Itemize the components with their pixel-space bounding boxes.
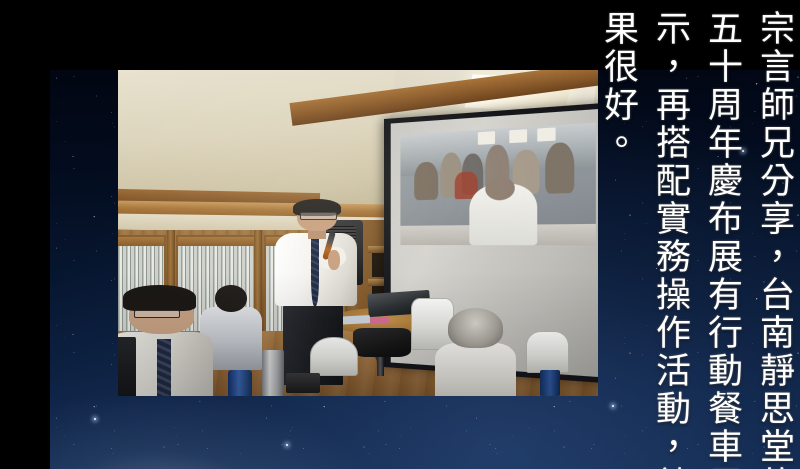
- presenter-necktie: [311, 237, 319, 306]
- bright-star: [286, 444, 288, 446]
- audience-necktie: [157, 339, 170, 396]
- audience-glasses: [134, 310, 180, 318]
- thermos-flask: [262, 350, 284, 396]
- presenter-glasses: [300, 212, 337, 219]
- caption-column-1: 宗言師兄分享，台南靜思堂的: [755, 10, 794, 469]
- floor-bag: [353, 328, 411, 357]
- audience-jacket: [118, 337, 136, 396]
- audience-back-facing: [435, 308, 517, 396]
- audience-hair: [123, 285, 196, 311]
- water-bottle: [540, 370, 559, 396]
- photo-lecture-hall: [118, 70, 598, 396]
- caption-column-3: 示，再搭配實務操作活動，效: [651, 10, 690, 469]
- blind-headrail: [118, 237, 164, 247]
- bright-star: [94, 418, 96, 420]
- letterbox-bar-left: [0, 0, 50, 469]
- presenter-hand: [328, 250, 340, 270]
- slide-canvas: 宗言師兄分享，台南靜思堂的 五十周年慶布展有行動餐車展 示，再搭配實務操作活動，…: [0, 0, 800, 469]
- projected-image: [401, 122, 597, 245]
- photo-content: [118, 70, 598, 396]
- audience-foreground-left: [118, 285, 209, 396]
- projected-light: [478, 131, 495, 145]
- audience-grey-hair: [448, 308, 503, 348]
- letterbox-bar-photo-gap: [50, 0, 118, 70]
- bright-star: [742, 150, 744, 152]
- plastic-chair: [526, 331, 569, 373]
- projected-person: [415, 162, 439, 201]
- bright-star: [612, 405, 614, 407]
- water-bottle: [228, 370, 252, 396]
- projected-light: [537, 127, 556, 141]
- projected-person: [546, 142, 575, 194]
- plastic-chair: [310, 337, 358, 376]
- foreground-dark-object: [286, 373, 320, 393]
- projected-light: [509, 129, 527, 143]
- caption-column-2: 五十周年慶布展有行動餐車展: [703, 10, 742, 469]
- audience-head: [215, 285, 247, 312]
- caption-column-4: 果很好。: [599, 10, 638, 162]
- blind-headrail: [178, 237, 256, 247]
- audience-body: [435, 343, 517, 396]
